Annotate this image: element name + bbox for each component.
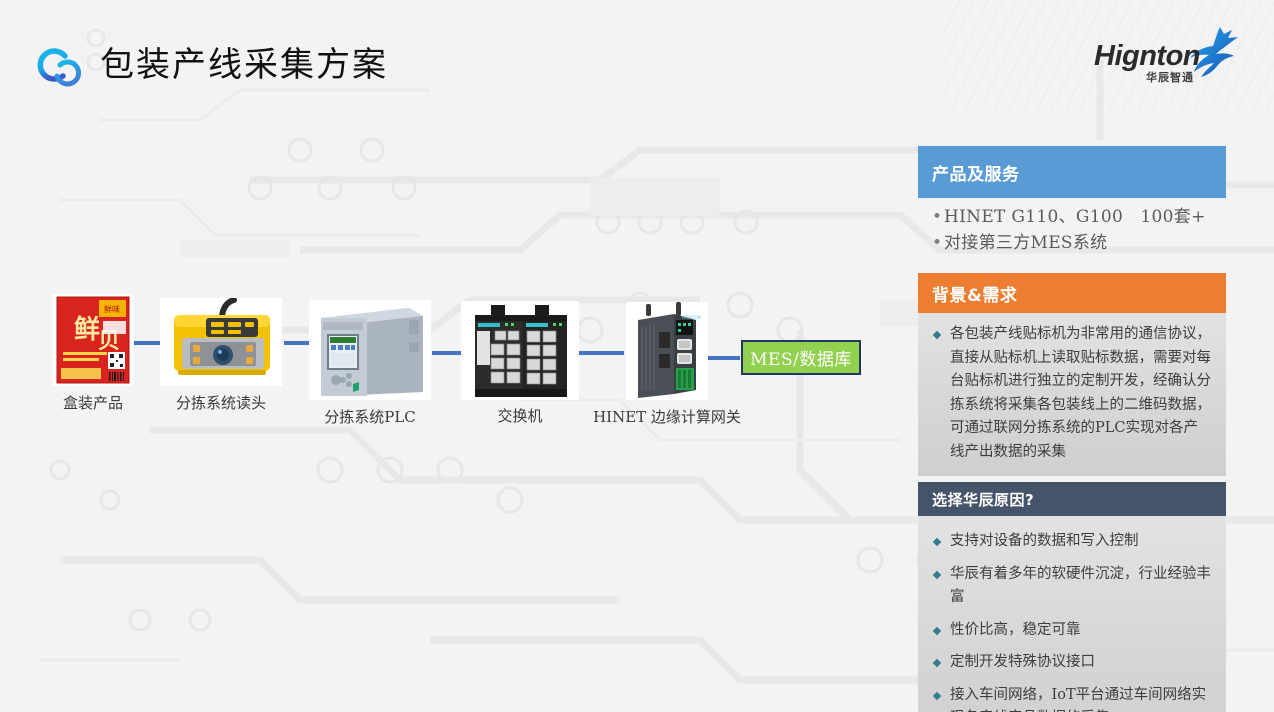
siemens-s7-plc-icon xyxy=(309,300,431,400)
list-item-text: 性价比高，稳定可靠 xyxy=(950,619,1212,643)
panel-header-background-requirements: 背景&需求 xyxy=(918,273,1226,313)
panel-title-why-hignton: 选择华辰原因? xyxy=(932,489,1034,510)
list-item: 定制开发特殊协议接口 xyxy=(930,651,1212,675)
node-label-sorting-plc: 分拣系统PLC xyxy=(299,406,441,427)
link-reader-to-plc xyxy=(284,341,310,345)
diamond-bullet-icon xyxy=(933,331,941,339)
link-plc-to-switch xyxy=(432,351,462,355)
svg-text:鲜: 鲜 xyxy=(74,315,100,345)
interlocking-circles-logo-icon xyxy=(33,40,89,92)
panel-title-background-requirements: 背景&需求 xyxy=(932,281,1017,306)
diamond-bullet-icon xyxy=(933,626,941,634)
list-item-text: 华辰有着多年的软硬件沉淀，行业经验丰富 xyxy=(950,563,1212,610)
node-label-boxed-product: 盒装产品 xyxy=(33,392,153,413)
panel-why-hignton: 选择华辰原因? 支持对设备的数据和写入控制 华辰有着多年的软硬件沉淀，行业经验丰… xyxy=(918,482,1226,712)
list-item-text: 支持对设备的数据和写入控制 xyxy=(950,530,1212,554)
list-item: 性价比高，稳定可靠 xyxy=(930,619,1212,643)
node-label-sorting-reader: 分拣系统读头 xyxy=(146,392,296,413)
list-item: • HINET G110、G100 100套+ xyxy=(932,204,1226,230)
bullet-dot-icon: • xyxy=(932,204,944,230)
svg-text:鲜味: 鲜味 xyxy=(104,304,120,314)
industrial-ethernet-switch-icon xyxy=(461,301,579,400)
diamond-bullet-icon xyxy=(933,538,941,546)
slide-canvas: 包装产线采集方案 Hignton 华辰智通 xyxy=(0,0,1274,712)
slide-header: 包装产线采集方案 Hignton 华辰智通 xyxy=(0,0,1274,112)
bullet-dot-icon: • xyxy=(932,230,944,256)
yellow-barcode-reader-icon xyxy=(160,298,282,386)
list-item: • 对接第三方MES系统 xyxy=(932,230,1226,256)
panel-body-why-hignton: 支持对设备的数据和写入控制 华辰有着多年的软硬件沉淀，行业经验丰富 性价比高，稳… xyxy=(918,516,1226,712)
mes-database-label: MES/数据库 xyxy=(750,345,852,370)
list-item-text: 定制开发特殊协议接口 xyxy=(950,651,1212,675)
page-title: 包装产线采集方案 xyxy=(100,40,388,90)
link-gateway-to-mes xyxy=(708,356,740,360)
link-switch-to-gateway xyxy=(578,351,624,355)
diamond-bullet-icon xyxy=(933,659,941,667)
node-label-hinet-gateway: HINET 边缘计算网关 xyxy=(586,406,748,427)
panel-products-services: 产品及服务 • HINET G110、G100 100套+ • 对接第三方MES… xyxy=(918,146,1226,264)
list-item: 华辰有着多年的软硬件沉淀，行业经验丰富 xyxy=(930,563,1212,610)
panel-body-products-services: • HINET G110、G100 100套+ • 对接第三方MES系统 xyxy=(918,198,1226,264)
list-item: 各包装产线贴标机为非常用的通信协议，直接从贴标机上读取贴标数据，需要对每台贴标机… xyxy=(930,323,1212,464)
link-product-to-reader xyxy=(134,341,160,345)
red-food-package-box-icon: 鲜味 鲜 贝 xyxy=(53,294,133,386)
list-item-text: 对接第三方MES系统 xyxy=(944,230,1107,256)
brand-subtitle: 华辰智通 xyxy=(1146,69,1194,85)
list-item: 接入车间网络，IoT平台通过车间网络实现各产线产品数据的采集 xyxy=(930,684,1212,712)
diamond-bullet-icon xyxy=(933,570,941,578)
diamond-bullet-icon xyxy=(933,691,941,699)
panel-body-background-requirements: 各包装产线贴标机为非常用的通信协议，直接从贴标机上读取贴标数据，需要对每台贴标机… xyxy=(918,313,1226,476)
hinet-edge-gateway-icon: HIGNTON xyxy=(626,302,708,400)
panel-background-requirements: 背景&需求 各包装产线贴标机为非常用的通信协议，直接从贴标机上读取贴标数据，需要… xyxy=(918,273,1226,476)
mes-database-box[interactable]: MES/数据库 xyxy=(741,340,861,375)
list-item-text: HINET G110、G100 100套+ xyxy=(944,204,1206,230)
list-item-text: 各包装产线贴标机为非常用的通信协议，直接从贴标机上读取贴标数据，需要对每台贴标机… xyxy=(950,323,1212,464)
panel-header-why-hignton: 选择华辰原因? xyxy=(918,482,1226,516)
brand-logo: Hignton 华辰智通 xyxy=(1094,24,1244,92)
info-panels: 产品及服务 • HINET G110、G100 100套+ • 对接第三方MES… xyxy=(918,146,1226,712)
svg-text:HIGNTON: HIGNTON xyxy=(682,315,701,320)
architecture-diagram: 鲜味 鲜 贝 盒装产品 xyxy=(0,130,900,460)
list-item-text: 接入车间网络，IoT平台通过车间网络实现各产线产品数据的采集 xyxy=(950,684,1212,712)
node-label-switch: 交换机 xyxy=(458,405,582,426)
list-item: 支持对设备的数据和写入控制 xyxy=(930,530,1212,554)
panel-spacer xyxy=(918,264,1226,273)
panel-header-products-services: 产品及服务 xyxy=(918,146,1226,198)
panel-title-products-services: 产品及服务 xyxy=(932,160,1020,185)
